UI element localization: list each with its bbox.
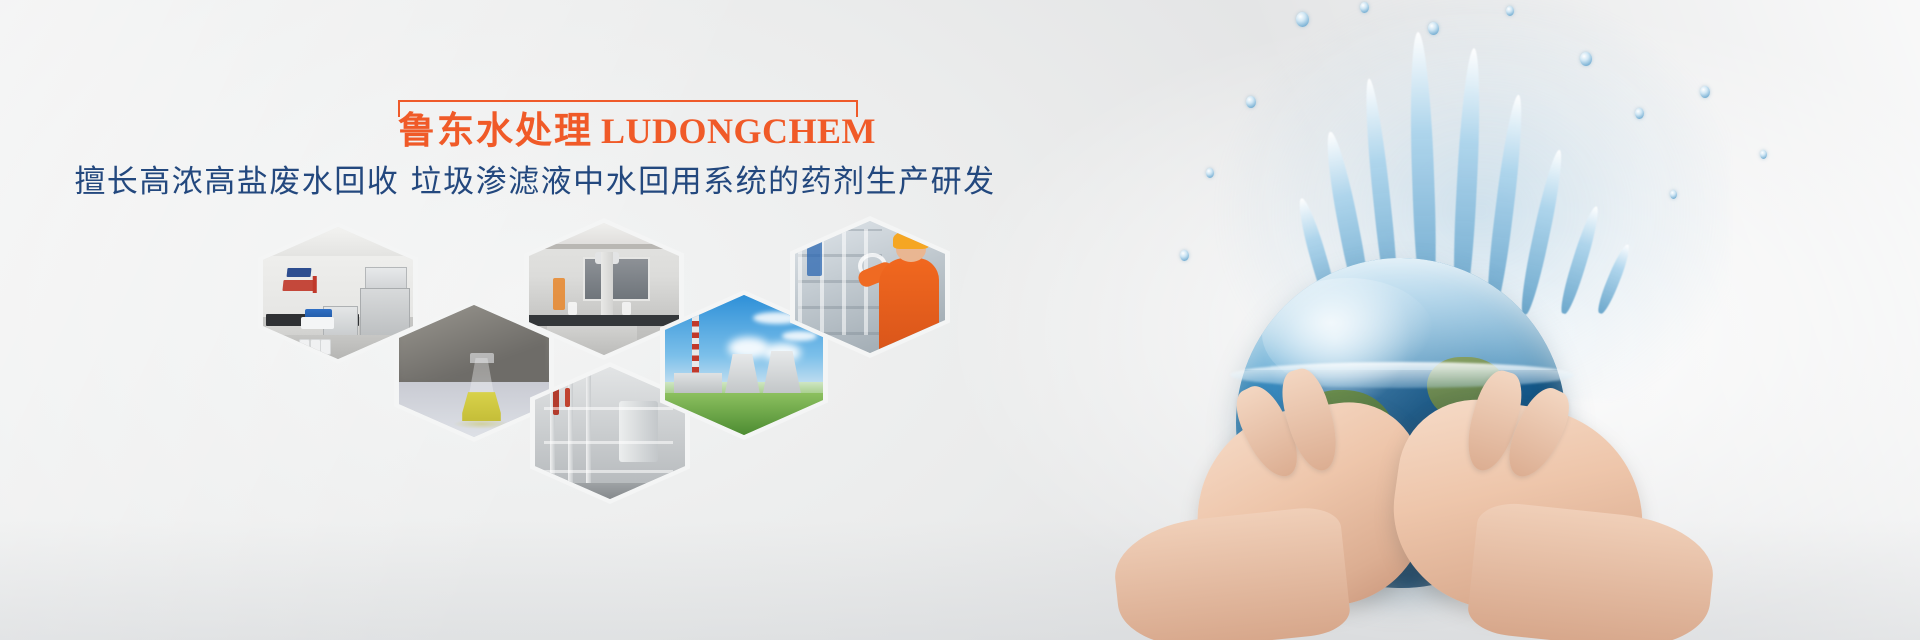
- brand-title-cn: 鲁东水处理: [398, 111, 593, 152]
- globe-water-surface: [1230, 362, 1574, 388]
- water-droplet: [1700, 86, 1710, 98]
- water-droplet: [1580, 52, 1592, 66]
- left-wrist: [1110, 504, 1352, 640]
- splash-halo: [1210, 0, 1730, 400]
- banner-subtitle: 擅长高浓高盐废水回收 垃圾渗滤液中水回用系统的药剂生产研发: [0, 162, 1070, 202]
- water-droplet: [1206, 168, 1214, 178]
- water-droplet: [1360, 2, 1369, 13]
- water-droplet: [1760, 150, 1767, 159]
- hexagon-photo-cluster: [228, 212, 988, 512]
- right-wrist: [1466, 500, 1718, 640]
- finger: [1498, 381, 1579, 485]
- brand-title-en: LUDONGCHEM: [601, 111, 876, 151]
- water-droplet: [1635, 108, 1644, 119]
- right-hand: [1381, 390, 1657, 629]
- water-droplet: [1180, 250, 1189, 261]
- water-droplet: [1506, 6, 1514, 16]
- hero-banner: 鲁东水处理LUDONGCHEM 擅长高浓高盐废水回收 垃圾渗滤液中水回用系统的药…: [0, 0, 1920, 640]
- water-droplet: [1246, 96, 1256, 108]
- finger: [1227, 379, 1309, 485]
- water-droplet: [1296, 12, 1309, 27]
- water-globe-artwork: [1060, 0, 1920, 640]
- water-droplet: [1428, 22, 1439, 35]
- background-floor-shadow: [0, 520, 1920, 640]
- brand-title: 鲁东水处理LUDONGCHEM: [398, 108, 858, 155]
- earth-globe: [1236, 258, 1566, 588]
- hex-photo-lab-interior-image: [263, 227, 413, 359]
- finger: [1459, 366, 1529, 476]
- brand-title-block: 鲁东水处理LUDONGCHEM: [398, 100, 858, 156]
- globe-in-hands: [1236, 258, 1614, 588]
- water-crown-splash: [1296, 16, 1646, 316]
- background-light-sweep-right: [1020, 0, 1920, 640]
- hex-photo-lab-equipment-image: [529, 223, 679, 355]
- left-hand: [1183, 393, 1439, 623]
- water-droplet: [1670, 190, 1677, 199]
- hex-photo-worker-orange-image: [795, 221, 945, 353]
- finger: [1275, 364, 1346, 476]
